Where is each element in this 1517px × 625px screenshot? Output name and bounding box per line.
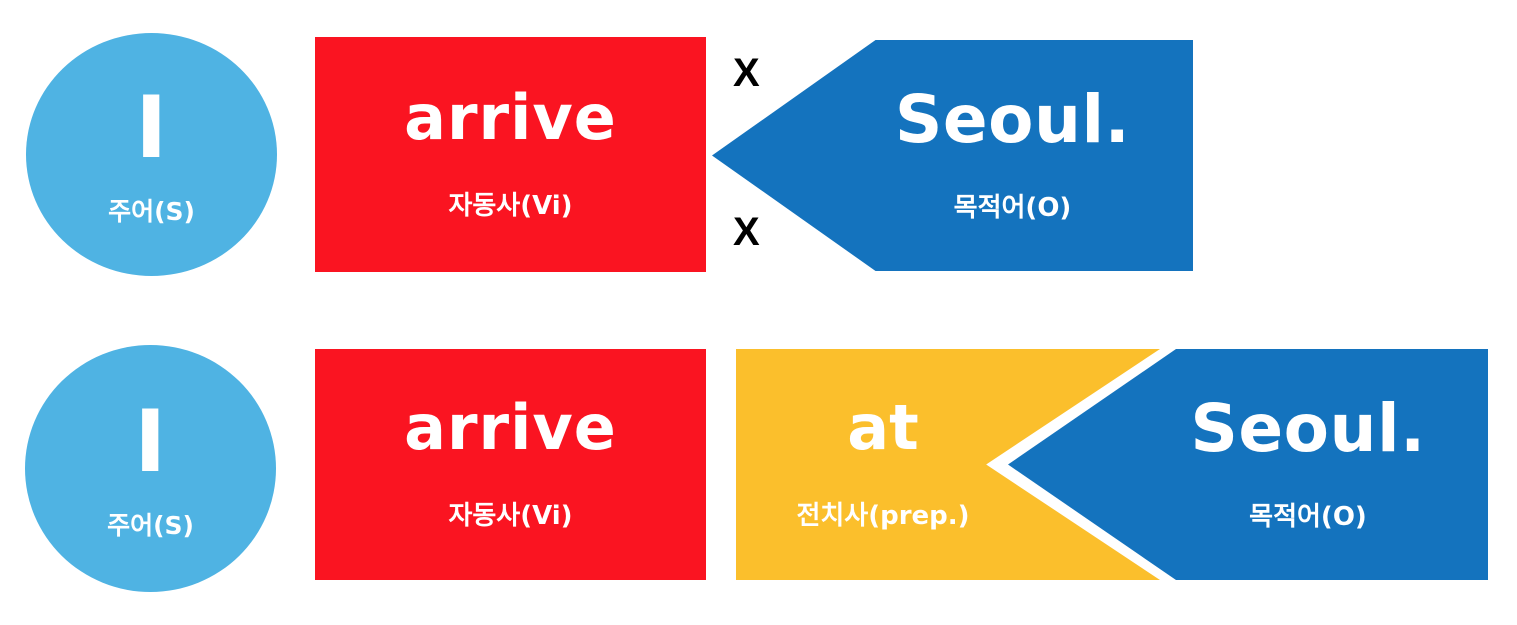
verb-tag-row1: 자동사(Vi): [448, 185, 572, 222]
verb-tag-row2: 자동사(Vi): [448, 495, 572, 532]
preposition-tag-row2: 전치사(prep.): [796, 495, 969, 532]
object-word-row1: Seoul.: [895, 87, 1130, 153]
subject-tag-row1: 주어(S): [108, 192, 195, 228]
subject-circle-row2[interactable]: I 주어(S): [25, 345, 276, 592]
object-arrow-row1[interactable]: Seoul. 목적어(O): [712, 40, 1193, 271]
x-mark-top-icon: X: [733, 53, 760, 93]
object-word-row2: Seoul.: [1190, 396, 1425, 462]
preposition-word-row2: at: [847, 397, 918, 459]
object-tag-row1: 목적어(O): [954, 187, 1072, 224]
subject-word-row2: I: [134, 405, 167, 481]
subject-word-row1: I: [135, 91, 168, 167]
subject-tag-row2: 주어(S): [107, 506, 194, 542]
verb-block-row2[interactable]: arrive 자동사(Vi): [315, 349, 706, 580]
verb-block-row1[interactable]: arrive 자동사(Vi): [315, 37, 706, 272]
object-tag-row2: 목적어(O): [1249, 496, 1367, 533]
x-mark-bottom-icon: X: [733, 212, 760, 252]
verb-word-row2: arrive: [404, 397, 617, 459]
subject-circle-row1[interactable]: I 주어(S): [26, 33, 277, 276]
grammar-diagram-stage: I 주어(S) arrive 자동사(Vi) X X Seoul. 목적어(O)…: [0, 0, 1517, 625]
verb-word-row1: arrive: [404, 87, 617, 149]
